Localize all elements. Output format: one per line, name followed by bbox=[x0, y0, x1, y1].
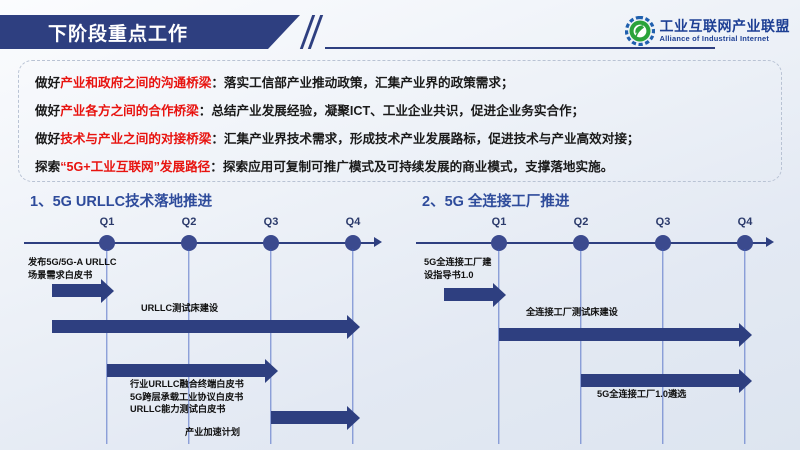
key-point-text: ：总结产业发展经验，凝聚ICT、工业企业共识，促进企业务实合作； bbox=[199, 104, 585, 118]
key-point-highlight: 产业和政府之间的沟通桥梁 bbox=[60, 76, 211, 90]
chart-panel-left: 1、5G URLLC技术落地推进 Q1Q2Q3Q4发布5G/5G-A URLLC… bbox=[8, 190, 398, 445]
quarter-label-q1: Q1 bbox=[100, 216, 115, 228]
gantt-bar bbox=[271, 411, 347, 424]
logo-text-en: Alliance of Industrial Internet bbox=[660, 35, 791, 43]
key-point-line: 做好技术与产业之间的对接桥梁：汇集产业界技术需求，形成技术产业发展路标，促进技术… bbox=[35, 125, 767, 153]
key-point-text: 探索 bbox=[35, 160, 60, 174]
gantt-bar bbox=[107, 364, 265, 377]
quarter-label-q4: Q4 bbox=[346, 216, 361, 228]
gantt-bar-label: 产业加速计划 bbox=[185, 426, 240, 439]
chart-panel-right: 2、5G 全连接工厂推进 Q1Q2Q3Q45G全连接工厂建 设指导书1.0全连接… bbox=[400, 190, 790, 445]
org-logo: 工业互联网产业联盟 Alliance of Industrial Interne… bbox=[625, 14, 791, 48]
gantt-bar-arrowhead bbox=[265, 359, 278, 383]
gear-leaf-logo-icon bbox=[625, 16, 655, 46]
key-point-text: 做好 bbox=[35, 76, 60, 90]
timeline-axis-arrow bbox=[766, 237, 774, 247]
title-banner: 下阶段重点工作 bbox=[0, 15, 300, 49]
key-points-card: 做好产业和政府之间的沟通桥梁：落实工信部产业推动政策，汇集产业界的政策需求；做好… bbox=[18, 60, 782, 182]
quarter-gridline-q3 bbox=[662, 249, 663, 444]
key-point-highlight: 技术与产业之间的对接桥梁 bbox=[60, 132, 211, 146]
gantt-bar-label: 5G全连接工厂1.0遴选 bbox=[597, 388, 686, 401]
key-point-text: 做好 bbox=[35, 132, 60, 146]
timeline-right: Q1Q2Q3Q45G全连接工厂建 设指导书1.0全连接工厂测试床建设5G全连接工… bbox=[400, 216, 790, 445]
key-point-text: ：探索应用可复制可推广模式及可持续发展的商业模式，支撑落地实施。 bbox=[210, 160, 613, 174]
gantt-bar-arrowhead bbox=[739, 323, 752, 347]
gantt-bar-arrowhead bbox=[739, 369, 752, 393]
page-title: 下阶段重点工作 bbox=[48, 19, 188, 46]
gantt-bar-label: 全连接工厂测试床建设 bbox=[526, 306, 618, 319]
quarter-label-q2: Q2 bbox=[182, 216, 197, 228]
gantt-bar bbox=[581, 374, 739, 387]
quarter-gridline-q4 bbox=[744, 249, 745, 444]
page-header: 下阶段重点工作 工业互联网产业联盟 Alliance of Industrial… bbox=[0, 0, 800, 58]
quarter-label-q4: Q4 bbox=[738, 216, 753, 228]
timeline-left: Q1Q2Q3Q4发布5G/5G-A URLLC 场景需求白皮书URLLC测试床建… bbox=[8, 216, 398, 445]
key-point-text: 做好 bbox=[35, 104, 60, 118]
quarter-label-q1: Q1 bbox=[492, 216, 507, 228]
timeline-axis bbox=[24, 242, 376, 244]
quarter-label-q3: Q3 bbox=[656, 216, 671, 228]
gantt-bar-label: URLLC测试床建设 bbox=[141, 302, 218, 315]
gantt-bar-label: 行业URLLC融合终端白皮书 5G跨层承载工业协议白皮书 URLLC能力测试白皮… bbox=[130, 378, 244, 416]
quarter-gridline-q2 bbox=[580, 249, 581, 444]
key-point-line: 做好产业和政府之间的沟通桥梁：落实工信部产业推动政策，汇集产业界的政策需求； bbox=[35, 69, 767, 97]
gantt-bar bbox=[499, 328, 739, 341]
logo-text-cn: 工业互联网产业联盟 bbox=[660, 19, 791, 33]
gantt-bar-arrowhead bbox=[101, 279, 114, 303]
quarter-label-q3: Q3 bbox=[264, 216, 279, 228]
gantt-bar-arrowhead bbox=[493, 283, 506, 307]
key-point-text: ：汇集产业界技术需求，形成技术产业发展路标，促进技术与产业高效对接； bbox=[211, 132, 639, 146]
gantt-bar bbox=[52, 284, 101, 297]
gantt-bar-arrowhead bbox=[347, 315, 360, 339]
timeline-axis-arrow bbox=[374, 237, 382, 247]
chart-title-left: 1、5G URLLC技术落地推进 bbox=[30, 190, 212, 211]
slash-accent-decoration bbox=[292, 15, 330, 49]
gantt-bar bbox=[444, 288, 493, 301]
gantt-bar-label: 5G全连接工厂建 设指导书1.0 bbox=[424, 256, 491, 281]
quarter-label-q2: Q2 bbox=[574, 216, 589, 228]
key-point-highlight: “5G+工业互联网”发展路径 bbox=[60, 160, 210, 174]
key-point-text: ：落实工信部产业推动政策，汇集产业界的政策需求； bbox=[211, 76, 513, 90]
key-point-line: 探索“5G+工业互联网”发展路径：探索应用可复制可推广模式及可持续发展的商业模式… bbox=[35, 153, 767, 181]
key-point-line: 做好产业各方之间的合作桥梁：总结产业发展经验，凝聚ICT、工业企业共识，促进企业… bbox=[35, 97, 767, 125]
key-point-highlight: 产业各方之间的合作桥梁 bbox=[60, 104, 199, 118]
quarter-gridline-q1 bbox=[498, 249, 499, 444]
gantt-bar-arrowhead bbox=[347, 406, 360, 430]
gantt-bar-label: 发布5G/5G-A URLLC 场景需求白皮书 bbox=[28, 256, 116, 281]
timeline-axis bbox=[416, 242, 768, 244]
gantt-bar bbox=[52, 320, 347, 333]
chart-title-right: 2、5G 全连接工厂推进 bbox=[422, 190, 569, 211]
